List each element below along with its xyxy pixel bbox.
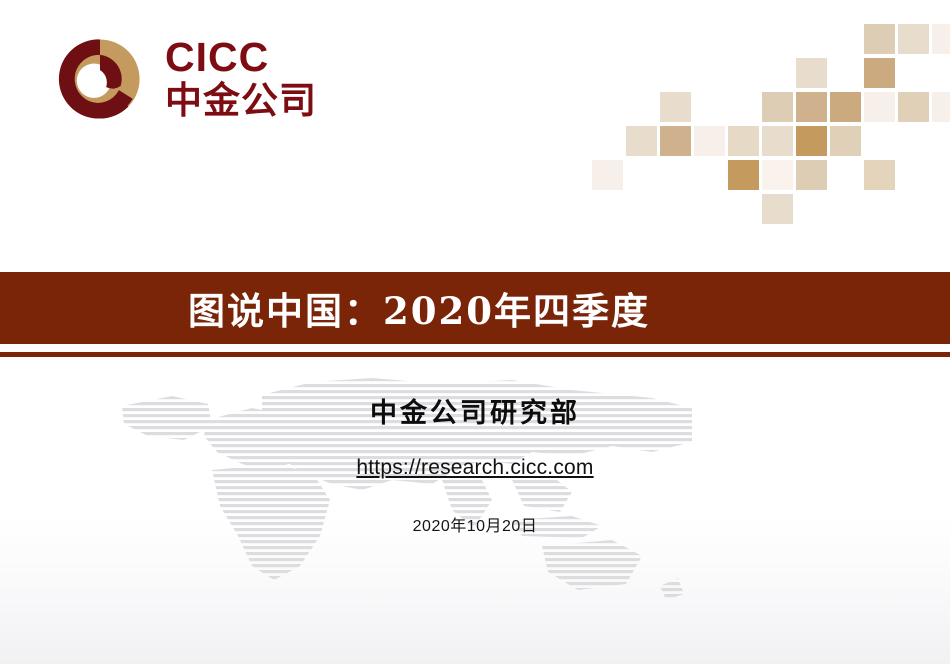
mosaic-tile — [626, 126, 657, 156]
publication-date: 2020年10月20日 — [0, 512, 950, 536]
page-title: 图说中国：2020年四季度 — [188, 281, 650, 335]
mosaic-tile — [762, 126, 793, 156]
department-name: 中金公司研究部 — [0, 398, 950, 430]
mosaic-tile — [864, 160, 895, 190]
mosaic-tile — [592, 160, 623, 190]
mosaic-tile — [660, 92, 691, 122]
mosaic-tile — [898, 24, 929, 54]
mosaic-tile — [830, 92, 861, 122]
mosaic-tile — [762, 92, 793, 122]
mosaic-tile — [830, 126, 861, 156]
mosaic-tile — [864, 58, 895, 88]
mosaic-tile — [660, 126, 691, 156]
mosaic-tile — [762, 194, 793, 224]
mosaic-tile — [694, 126, 725, 156]
cicc-wordmark: CICC 中金公司 — [165, 37, 317, 121]
mosaic-tile — [898, 92, 929, 122]
title-underline-rule — [0, 352, 950, 357]
mosaic-tile — [932, 24, 950, 54]
logo-chinese-text: 中金公司 — [165, 82, 317, 121]
mosaic-tile — [728, 160, 759, 190]
mosaic-tile — [762, 160, 793, 190]
title-banner: 图说中国：2020年四季度 — [0, 272, 950, 344]
mosaic-tile — [796, 126, 827, 156]
mosaic-tile — [864, 24, 895, 54]
mosaic-tile — [932, 92, 950, 122]
mosaic-tile — [796, 92, 827, 122]
cicc-ring-logo-icon — [57, 36, 143, 122]
cover-info-block: 中金公司研究部 https://research.cicc.com 2020年1… — [0, 398, 950, 536]
research-website-link[interactable]: https://research.cicc.com — [356, 456, 593, 480]
mosaic-tile — [864, 92, 895, 122]
bottom-gradient — [0, 514, 950, 664]
decorative-mosaic — [592, 24, 950, 219]
presentation-cover-slide: CICC 中金公司 图说中国：2020年四季度 中金公司研究部 https://… — [0, 0, 950, 664]
mosaic-tile — [796, 160, 827, 190]
mosaic-tile — [796, 58, 827, 88]
mosaic-tile — [728, 126, 759, 156]
logo-latin-text: CICC — [165, 37, 317, 78]
cicc-logo: CICC 中金公司 — [57, 36, 317, 122]
